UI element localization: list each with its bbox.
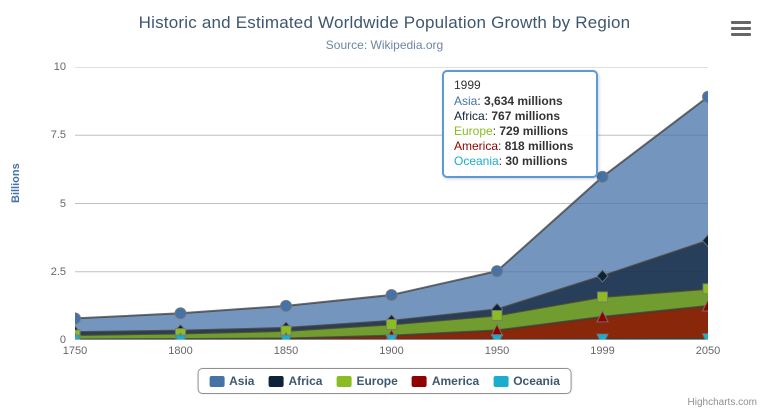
legend-swatch-asia [209, 376, 224, 387]
chart-svg [75, 67, 708, 340]
hamburger-menu-icon[interactable] [729, 18, 753, 38]
legend-swatch-europe [336, 376, 351, 387]
chart-title: Historic and Estimated Worldwide Populat… [0, 13, 769, 33]
tooltip-header: 1999 [454, 78, 586, 92]
y-axis-tick-label: 0 [6, 334, 66, 346]
tooltip-row-africa: Africa: 767 millions [454, 109, 586, 124]
highcharts-chart: Historic and Estimated Worldwide Populat… [0, 0, 769, 416]
legend-swatch-africa [268, 376, 283, 387]
data-point-asia-1950[interactable] [492, 266, 503, 277]
tooltip-separator: : [477, 94, 484, 108]
y-axis-tick-label: 7.5 [6, 129, 66, 141]
tooltip-series-name: Oceania [454, 154, 499, 168]
data-point-oceania-1800[interactable] [175, 335, 186, 340]
legend-swatch-oceania [493, 376, 508, 387]
tooltip-row-europe: Europe: 729 millions [454, 124, 586, 139]
x-axis-tick-label: 2050 [696, 345, 720, 357]
tooltip-row-asia: Asia: 3,634 millions [454, 94, 586, 109]
legend-item-oceania[interactable]: Oceania [493, 374, 560, 388]
tooltip-value: 818 millions [505, 139, 574, 153]
tooltip-row-oceania: Oceania: 30 millions [454, 154, 586, 169]
y-axis-tick-label: 2.5 [6, 266, 66, 278]
tooltip-value: 729 millions [499, 124, 568, 138]
data-point-asia-1900[interactable] [386, 289, 397, 300]
tooltip-series-name: Asia [454, 94, 477, 108]
legend-swatch-america [412, 376, 427, 387]
x-axis-tick-label: 1950 [485, 345, 509, 357]
legend-label: Europe [356, 374, 397, 388]
tooltip-value: 3,634 millions [484, 94, 563, 108]
chart-legend: AsiaAfricaEuropeAmericaOceania [197, 368, 572, 394]
chart-subtitle: Source: Wikipedia.org [0, 38, 769, 52]
y-axis-tick-label: 10 [6, 61, 66, 73]
y-axis-tick-label: 5 [6, 198, 66, 210]
hamburger-bar-2 [731, 27, 751, 30]
tooltip-value: 767 millions [491, 109, 560, 123]
x-axis-tick-label: 1900 [379, 345, 403, 357]
legend-item-america[interactable]: America [412, 374, 479, 388]
legend-label: Asia [229, 374, 254, 388]
data-point-europe-1999[interactable] [598, 292, 608, 302]
data-point-europe-2050[interactable] [703, 284, 708, 294]
legend-item-europe[interactable]: Europe [336, 374, 397, 388]
credits-link[interactable]: Highcharts.com [688, 397, 757, 408]
hamburger-bar-1 [731, 21, 751, 24]
data-point-asia-1999[interactable] [597, 171, 608, 182]
plot-area [75, 67, 708, 340]
tooltip-row-america: America: 818 millions [454, 139, 586, 154]
legend-item-asia[interactable]: Asia [209, 374, 254, 388]
legend-label: Africa [288, 374, 322, 388]
tooltip-series-name: America [454, 139, 498, 153]
x-axis-tick-label: 1999 [590, 345, 614, 357]
hamburger-bar-3 [731, 33, 751, 36]
tooltip-series-name: Europe [454, 124, 493, 138]
data-point-oceania-1850[interactable] [281, 335, 292, 340]
data-point-europe-1950[interactable] [492, 310, 502, 320]
x-axis-tick-label: 1800 [168, 345, 192, 357]
data-tooltip: 1999 Asia: 3,634 millionsAfrica: 767 mil… [442, 70, 598, 178]
data-point-europe-1900[interactable] [387, 319, 397, 329]
legend-item-africa[interactable]: Africa [268, 374, 322, 388]
tooltip-value: 30 millions [505, 154, 567, 168]
legend-label: Oceania [513, 374, 560, 388]
tooltip-separator: : [498, 139, 505, 153]
tooltip-rows: Asia: 3,634 millionsAfrica: 767 millions… [454, 94, 586, 169]
legend-label: America [432, 374, 479, 388]
data-point-asia-1800[interactable] [175, 308, 186, 319]
data-point-asia-1850[interactable] [281, 300, 292, 311]
tooltip-series-name: Africa [454, 109, 485, 123]
x-axis-tick-label: 1850 [274, 345, 298, 357]
data-point-oceania-1900[interactable] [386, 335, 397, 340]
x-axis-tick-label: 1750 [63, 345, 87, 357]
